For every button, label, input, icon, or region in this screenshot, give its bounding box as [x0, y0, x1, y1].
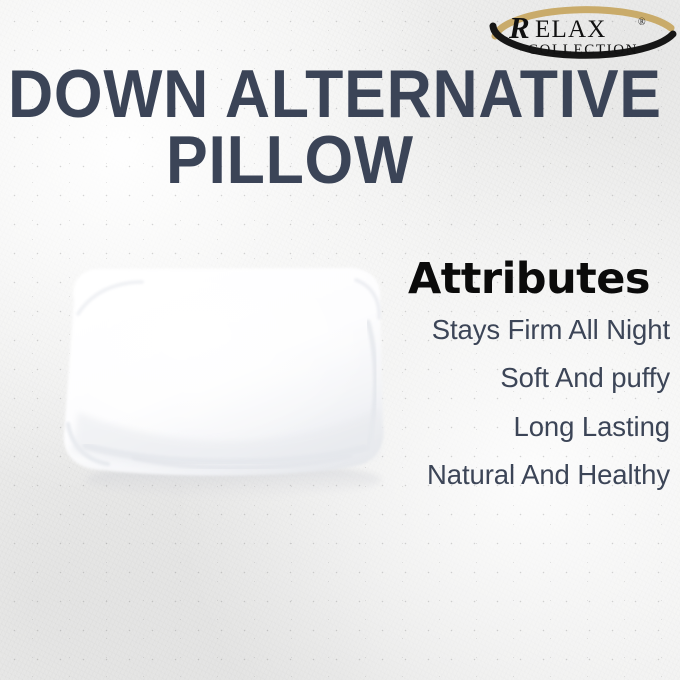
attribute-item: Natural And Healthy [384, 461, 674, 489]
logo-registered-trademark-icon: ® [638, 17, 646, 28]
logo-initial-r: R [508, 10, 530, 45]
headline-line-1: DOWN ALTERNATIVE [8, 60, 662, 128]
relax-collection-logo: R ELAX ® COLLECTION [487, 2, 679, 62]
attribute-item: Soft And puffy [384, 364, 674, 392]
attributes-panel: Attributes Stays Firm All Night Soft And… [384, 258, 674, 489]
attributes-heading: Attributes [384, 258, 674, 302]
product-advertisement-canvas: R ELAX ® COLLECTION DOWN ALTERNATIVE PIL… [0, 0, 680, 680]
attribute-item: Stays Firm All Night [384, 316, 674, 344]
logo-brand-rest: ELAX [535, 16, 606, 43]
headline-line-2: PILLOW [166, 126, 414, 194]
attribute-item: Long Lasting [384, 413, 674, 441]
product-image-pillow [38, 252, 404, 508]
